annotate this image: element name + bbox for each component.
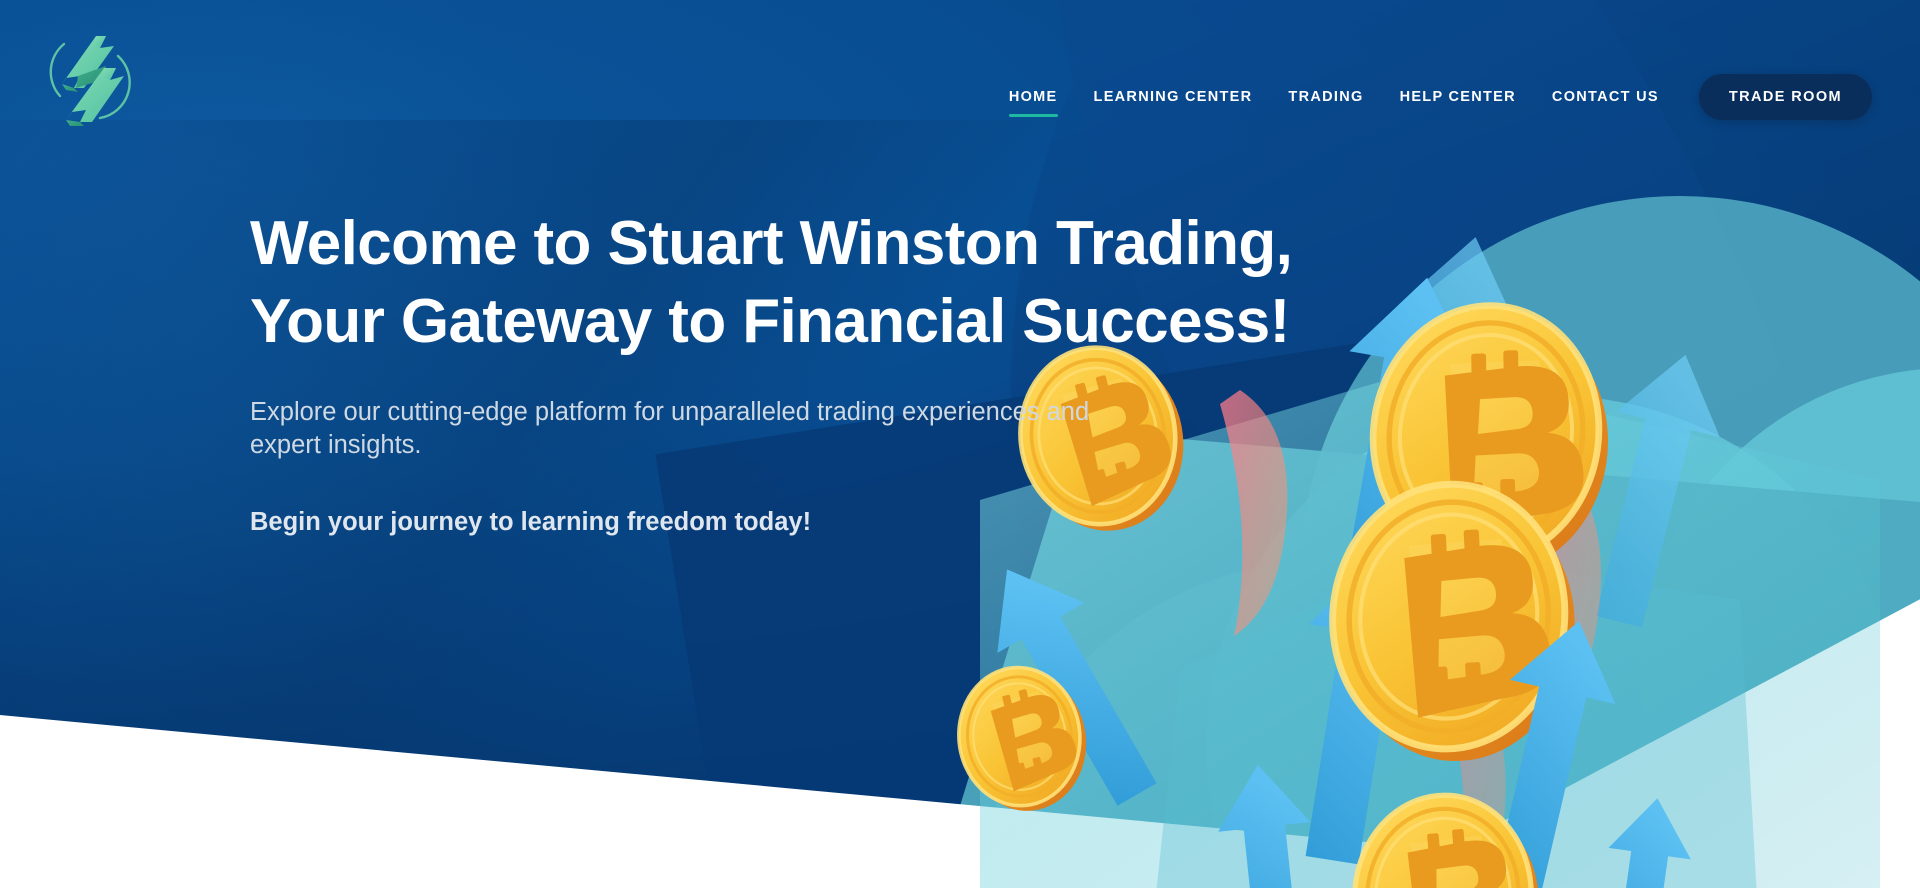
page-title: Welcome to Stuart Winston Trading, Your … bbox=[250, 212, 1310, 354]
nav-item-trading[interactable]: TRADING bbox=[1288, 85, 1363, 109]
trade-room-button[interactable]: TRADE ROOM bbox=[1699, 74, 1872, 120]
main-navigation: HOME LEARNING CENTER TRADING HELP CENTER… bbox=[1009, 74, 1872, 120]
hero-content: Welcome to Stuart Winston Trading, Your … bbox=[250, 212, 1310, 539]
site-header: HOME LEARNING CENTER TRADING HELP CENTER… bbox=[0, 0, 1920, 152]
hero-page: HOME LEARNING CENTER TRADING HELP CENTER… bbox=[0, 0, 1920, 888]
page-title-line-2: Your Gateway to Financial Success! bbox=[250, 290, 1310, 354]
logo-link[interactable] bbox=[44, 26, 136, 130]
page-title-line-1: Welcome to Stuart Winston Trading, bbox=[250, 209, 1292, 278]
hero-cta-text: Begin your journey to learning freedom t… bbox=[250, 507, 1310, 539]
stuart-winston-s-logo-icon bbox=[44, 26, 136, 130]
nav-item-help-center[interactable]: HELP CENTER bbox=[1400, 85, 1516, 109]
hero-subtext: Explore our cutting-edge platform for un… bbox=[250, 396, 1150, 463]
nav-item-contact-us[interactable]: CONTACT US bbox=[1552, 85, 1659, 109]
nav-item-learning-center[interactable]: LEARNING CENTER bbox=[1094, 85, 1253, 109]
nav-item-home[interactable]: HOME bbox=[1009, 85, 1058, 109]
